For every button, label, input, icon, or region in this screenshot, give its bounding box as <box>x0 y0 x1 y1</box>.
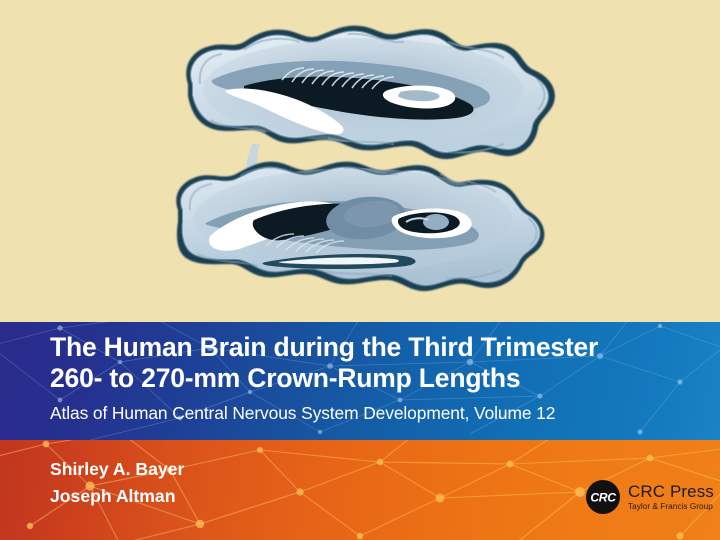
svg-text:CRC: CRC <box>590 491 616 505</box>
author-name-1: Shirley A. Bayer <box>50 456 184 483</box>
brain-section-upper <box>186 26 555 159</box>
cover-artwork-panel <box>0 0 720 322</box>
author-name-2: Joseph Altman <box>50 483 184 510</box>
publisher-group: Taylor & Francis Group <box>628 503 714 511</box>
title-block: The Human Brain during the Third Trimest… <box>50 332 700 424</box>
publisher-text-block: CRC Press Taylor & Francis Group <box>628 483 714 511</box>
book-cover: The Human Brain during the Third Trimest… <box>0 0 720 540</box>
title-line-2: 260- to 270-mm Crown-Rump Lengths <box>50 363 700 394</box>
publisher-logo: CRC CRC Press Taylor & Francis Group <box>585 479 714 515</box>
title-line-1: The Human Brain during the Third Trimest… <box>50 332 700 363</box>
series-subtitle: Atlas of Human Central Nervous System De… <box>50 402 700 424</box>
crc-roundel-icon: CRC <box>585 479 621 515</box>
title-band: The Human Brain during the Third Trimest… <box>0 322 720 440</box>
brain-section-lower <box>176 162 544 291</box>
publisher-name: CRC Press <box>628 483 714 500</box>
author-block: Shirley A. Bayer Joseph Altman <box>50 456 184 510</box>
brain-section-image <box>148 14 572 312</box>
